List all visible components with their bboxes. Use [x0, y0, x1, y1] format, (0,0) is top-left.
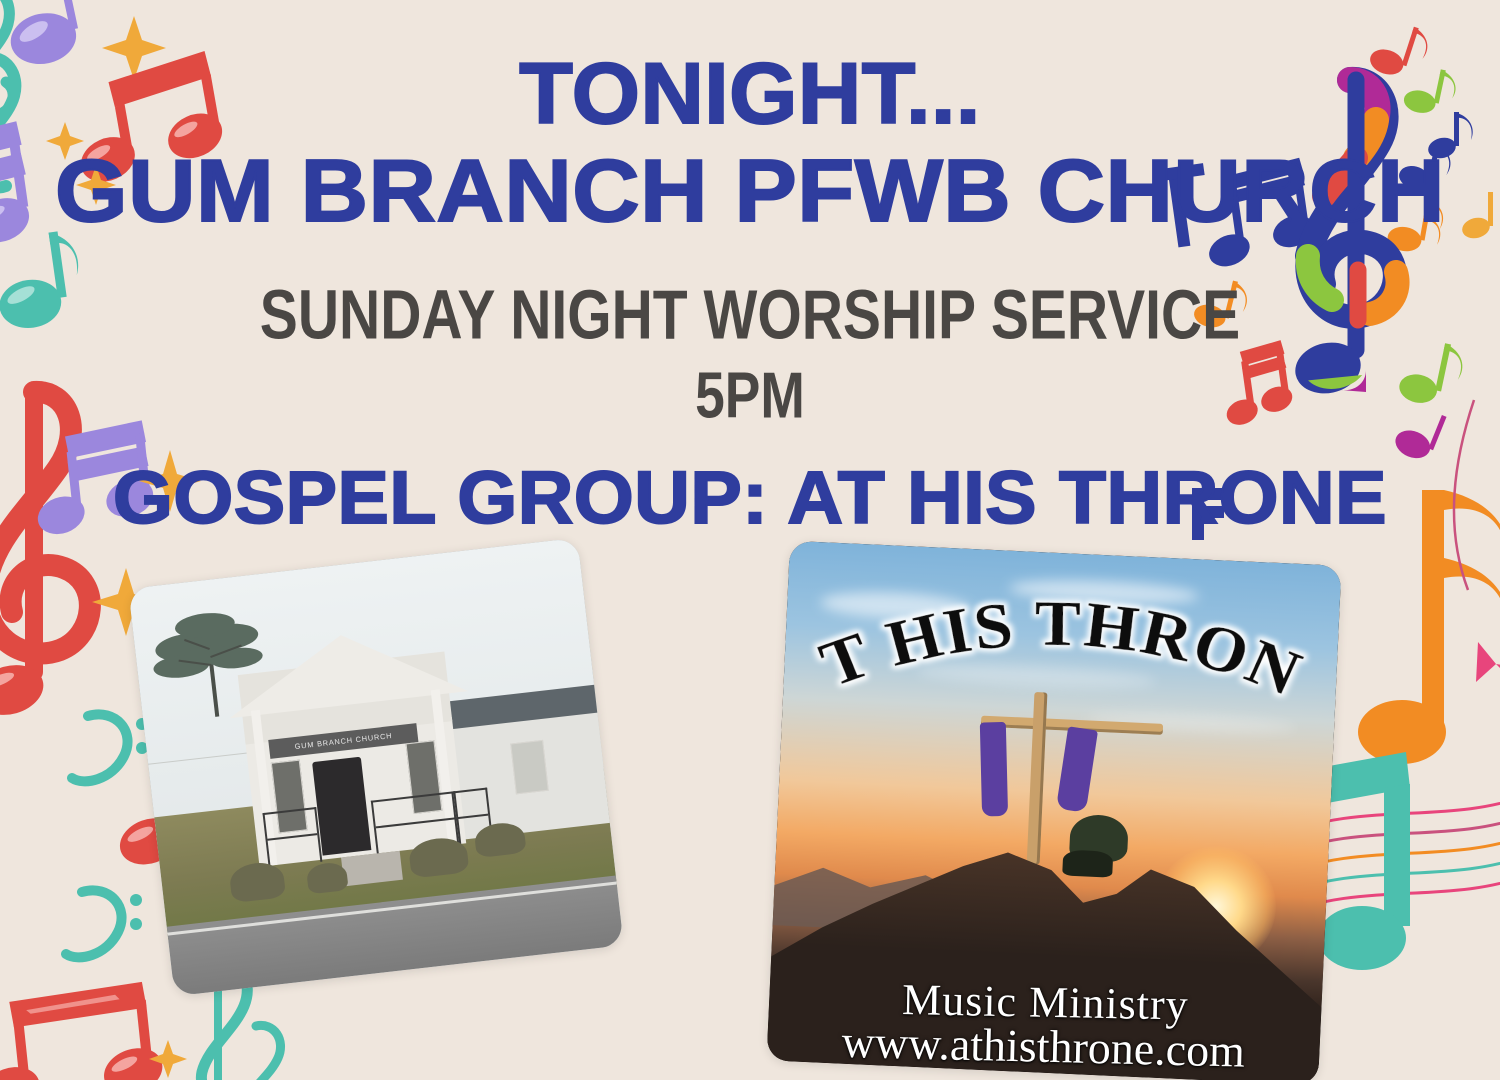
album-website: www.athisthrone.com	[767, 1016, 1320, 1078]
teal-treble-clef-3	[246, 1025, 281, 1080]
gold-sparkle-sm-2	[149, 1040, 187, 1078]
church-photo: GUM BRANCH CHURCH	[128, 538, 624, 997]
purple-cloth-left	[980, 722, 1008, 816]
annex-window	[510, 740, 549, 795]
album-arc-title: AT HIS THRONE	[783, 582, 1340, 727]
album-footer: Music Ministry www.athisthrone.com	[767, 968, 1323, 1080]
service-label: SUNDAY NIGHT WORSHIP SERVICE	[60, 276, 1440, 356]
red-treble-clef	[0, 392, 90, 723]
teal-bass-clef-2	[66, 890, 142, 957]
title-church-name: GUM BRANCH PFWB CHURCH	[0, 148, 1500, 234]
title-tonight: TONIGHT...	[0, 52, 1500, 136]
svg-text:AT HIS THRONE: AT HIS THRONE	[783, 582, 1317, 722]
kneeling-figure-base	[1062, 850, 1113, 878]
gospel-group-label: GOSPEL GROUP: AT HIS THRONE	[0, 462, 1500, 535]
porch-rail-left	[263, 807, 323, 868]
red-beamed-notes-bottom	[0, 980, 171, 1080]
album-art: AT HIS THRONE Music Ministry www.athisth…	[766, 541, 1341, 1080]
flyer-canvas: TONIGHT... GUM BRANCH PFWB CHURCH SUNDAY…	[0, 0, 1500, 1080]
teal-bass-clef	[72, 714, 148, 781]
pink-eighth-note	[1476, 642, 1500, 682]
service-time: 5PM	[60, 358, 1440, 433]
